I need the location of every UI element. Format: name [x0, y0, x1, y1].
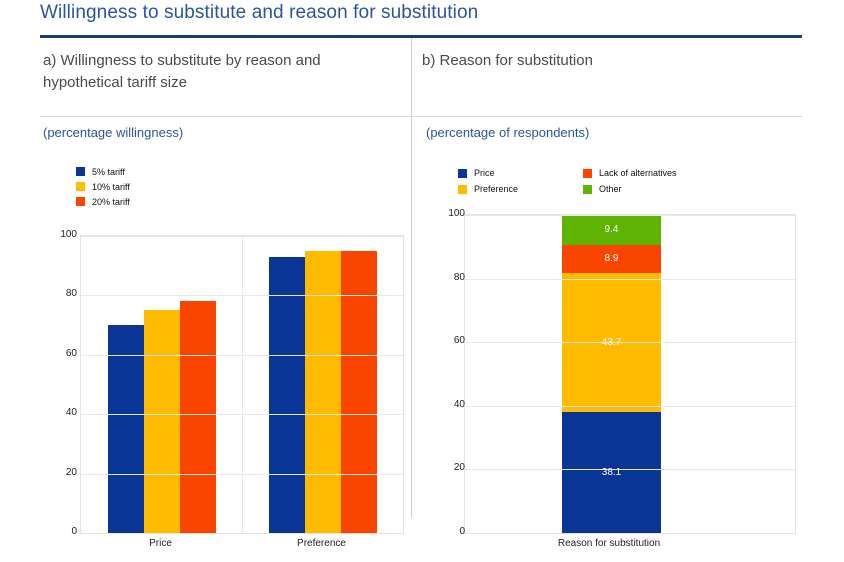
- legend-label: 10% tariff: [92, 182, 130, 192]
- legend-item: Preference: [458, 181, 583, 197]
- gridline: [465, 279, 795, 280]
- chart-a: 020406080100 PricePreference: [38, 228, 408, 553]
- y-axis-tick-label: 60: [47, 348, 77, 359]
- bar: [341, 251, 377, 533]
- legend-label: Lack of alternatives: [599, 168, 677, 178]
- y-axis-tick-label: 20: [47, 467, 77, 478]
- panel-horizontal-divider: [40, 116, 802, 117]
- legend-item: 5% tariff: [76, 164, 130, 179]
- legend-swatch-icon: [76, 197, 85, 206]
- y-axis-tick-label: 40: [47, 407, 77, 418]
- y-axis-tick-label: 0: [47, 526, 77, 537]
- legend-item: Other: [583, 181, 708, 197]
- panel-header-row: a) Willingness to substitute by reason a…: [40, 38, 802, 116]
- legend-swatch-icon: [583, 185, 592, 194]
- legend-item: 20% tariff: [76, 194, 130, 209]
- y-axis-tick-label: 60: [435, 335, 465, 346]
- x-axis-tick-label: Price: [80, 538, 241, 549]
- panel-b-header: b) Reason for substitution: [422, 50, 794, 72]
- legend-item: Lack of alternatives: [583, 165, 708, 181]
- legend-label: 20% tariff: [92, 197, 130, 207]
- y-axis-tick-label: 0: [435, 526, 465, 537]
- bar-group: [81, 236, 242, 533]
- y-axis-tick-label: 100: [435, 208, 465, 219]
- x-axis-tick-label: Preference: [241, 538, 402, 549]
- bar-group: [242, 236, 403, 533]
- stacked-segment: 38.1: [562, 412, 661, 533]
- chart-a-legend: 5% tariff10% tariff20% tariff: [76, 164, 130, 209]
- legend-label: Price: [474, 168, 495, 178]
- segment-value-label: 8.9: [605, 253, 619, 264]
- chart-b: 38.143.78.99.4 020406080100 Reason for s…: [424, 206, 804, 554]
- legend-swatch-icon: [458, 185, 467, 194]
- bar: [305, 251, 341, 533]
- category-separator: [242, 236, 243, 533]
- legend-label: 5% tariff: [92, 167, 125, 177]
- stacked-segment: 9.4: [562, 215, 661, 245]
- bar: [108, 325, 144, 533]
- segment-value-label: 9.4: [605, 224, 619, 235]
- legend-swatch-icon: [583, 169, 592, 178]
- stacked-segment: 8.9: [562, 245, 661, 273]
- chart-a-plot-area: [80, 235, 404, 534]
- gridline: [465, 406, 795, 407]
- panel-a-header: a) Willingness to substitute by reason a…: [43, 50, 401, 94]
- y-axis-tick-label: 80: [47, 288, 77, 299]
- chart-b-legend: PriceLack of alternativesPreferenceOther: [458, 165, 708, 197]
- bar: [269, 257, 305, 533]
- legend-label: Preference: [474, 184, 518, 194]
- chart-b-x-label: Reason for substitution: [424, 538, 794, 549]
- legend-swatch-icon: [76, 182, 85, 191]
- legend-item: 10% tariff: [76, 179, 130, 194]
- bar: [144, 310, 180, 533]
- legend-swatch-icon: [76, 167, 85, 176]
- page-title: Willingness to substitute and reason for…: [40, 2, 478, 24]
- figure-page: Willingness to substitute and reason for…: [0, 0, 844, 562]
- panel-a-units: (percentage willingness): [43, 125, 183, 140]
- gridline: [465, 469, 795, 470]
- gridline: [465, 215, 795, 216]
- y-axis-tick-label: 80: [435, 272, 465, 283]
- chart-b-stacked-bar: 38.143.78.99.4: [562, 215, 661, 533]
- legend-swatch-icon: [458, 169, 467, 178]
- gridline: [465, 342, 795, 343]
- y-axis-tick-label: 100: [47, 229, 77, 240]
- panel-b-units: (percentage of respondents): [426, 125, 589, 140]
- bar: [180, 301, 216, 533]
- legend-label: Other: [599, 184, 622, 194]
- y-axis-tick-label: 40: [435, 399, 465, 410]
- panel-vertical-divider: [411, 38, 412, 518]
- y-axis-tick-label: 20: [435, 462, 465, 473]
- legend-item: Price: [458, 165, 583, 181]
- chart-b-plot-area: 38.143.78.99.4: [464, 214, 796, 534]
